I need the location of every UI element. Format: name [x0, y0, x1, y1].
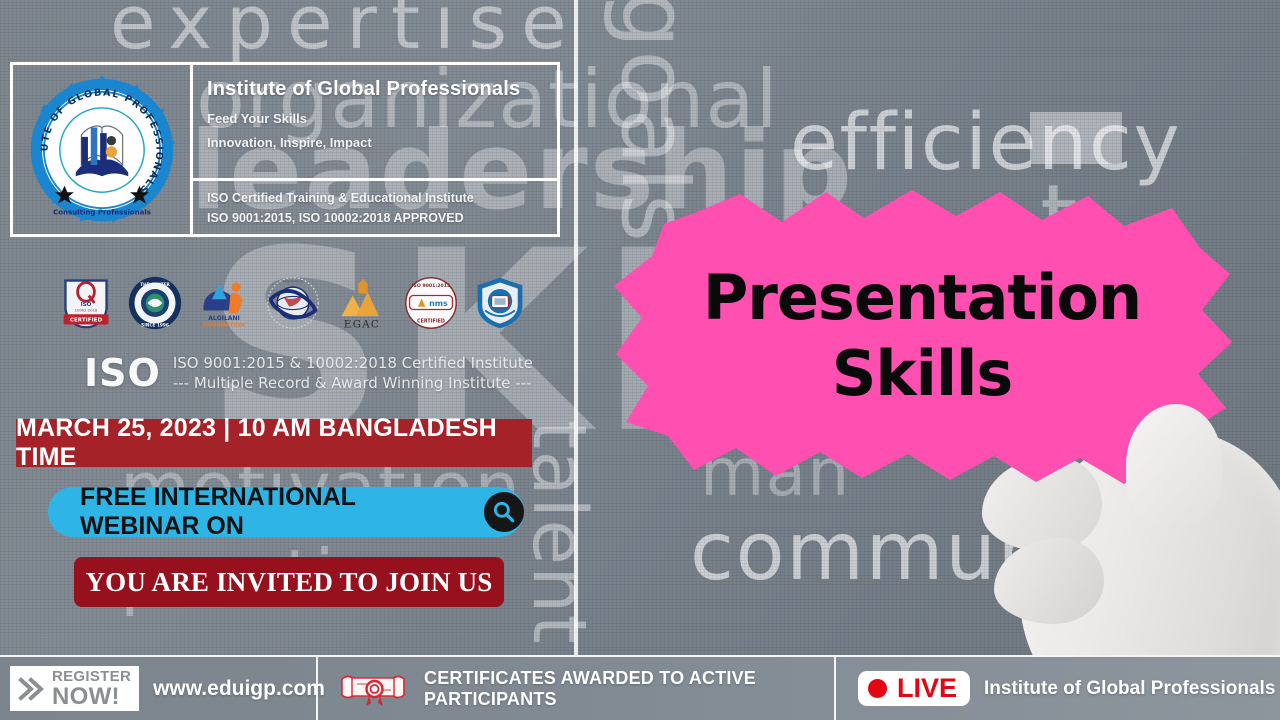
logo-cell: INSTITUTE OF GLOBAL PROFESSIONALS: [13, 65, 193, 234]
bg-word-expertise: expertise: [110, 0, 581, 60]
organization-header-box: INSTITUTE OF GLOBAL PROFESSIONALS: [10, 62, 560, 237]
shield-institute-badge-icon: [472, 275, 528, 331]
iso-description-line-1: ISO 9001:2015 & 10002:2018 Certified Ins…: [173, 353, 533, 373]
live-organization-name: Institute of Global Professionals: [984, 678, 1275, 700]
organization-info-cell: Institute of Global Professionals Feed Y…: [193, 65, 557, 234]
svg-text:EGAC: EGAC: [344, 318, 380, 330]
footer-bar: REGISTER NOW! www.eduigp.com: [0, 655, 1280, 720]
organization-tagline: Feed Your Skills: [207, 111, 557, 126]
svg-text:FOUNDATION: FOUNDATION: [203, 322, 245, 328]
svg-text:ALGILANI: ALGILANI: [208, 315, 240, 322]
svg-text:FEDERATION: FEDERATION: [283, 279, 304, 283]
iso-certification-strip: ISO ISO 9001:2015 & 10002:2018 Certified…: [84, 352, 554, 394]
organization-motto: Innovation, Inspire, Impact: [207, 135, 557, 150]
certificates-awarded-text: CERTIFICATES AWARDED TO ACTIVE PARTICIPA…: [424, 668, 834, 710]
footer-register-section: REGISTER NOW! www.eduigp.com: [0, 657, 316, 720]
certification-logos-row: ISO 10002:2018 CERTIFIED THE CENTER SINC…: [58, 272, 558, 334]
iso-description-line-2: --- Multiple Record & Award Winning Inst…: [173, 373, 533, 393]
vertical-divider: [574, 0, 578, 655]
free-webinar-bar[interactable]: FREE INTERNATIONAL WEBINAR ON: [48, 487, 524, 537]
footer-certificates-section: CERTIFICATES AWARDED TO ACTIVE PARTICIPA…: [316, 657, 834, 720]
svg-text:10002:2018: 10002:2018: [75, 308, 98, 312]
live-badge: LIVE: [858, 671, 970, 706]
institute-seal-logo: INSTITUTE OF GLOBAL PROFESSIONALS: [27, 75, 177, 225]
webinar-poster: expertise organizational leadership goal…: [0, 0, 1280, 720]
nms-iso-certified-badge-icon: ISO 9001:2015 nms CERTIFIED: [403, 275, 459, 331]
bg-block-decoration: [1030, 112, 1122, 164]
seal-bottom-text: Consulting Professionals: [53, 207, 151, 216]
bg-word-efficiency: efficiency: [790, 104, 1181, 182]
iso-quality-certified-badge-icon: ISO 10002:2018 CERTIFIED: [58, 275, 114, 331]
svg-text:ISO: ISO: [81, 302, 92, 308]
thumb-illustration: [1126, 404, 1222, 524]
live-label: LIVE: [897, 675, 957, 702]
double-chevron-icon: [16, 674, 46, 704]
free-webinar-label: FREE INTERNATIONAL WEBINAR ON: [80, 483, 468, 541]
algilani-foundation-badge-icon: ALGILANI FOUNDATION: [196, 275, 252, 331]
seal-emblem: [75, 126, 128, 176]
svg-text:ISO 9001:2015: ISO 9001:2015: [412, 283, 450, 289]
diploma-certificate-icon: [336, 669, 410, 709]
iso-certified-line: ISO Certified Training & Educational Ins…: [207, 189, 557, 208]
invitation-bar: YOU ARE INVITED TO JOIN US: [74, 557, 504, 607]
iso-description: ISO 9001:2015 & 10002:2018 Certified Ins…: [173, 353, 533, 394]
register-now-button[interactable]: REGISTER NOW!: [10, 666, 139, 711]
register-now-label: REGISTER NOW!: [52, 670, 131, 708]
event-date-bar: MARCH 25, 2023 | 10 AM BANGLADESH TIME: [16, 419, 532, 467]
svg-text:THE CENTER: THE CENTER: [140, 282, 170, 288]
website-url[interactable]: www.eduigp.com: [153, 677, 325, 701]
title-line-2: Skills: [832, 343, 1013, 405]
bg-word-talent: talent: [522, 420, 596, 645]
svg-text:nms: nms: [429, 299, 448, 308]
center-of-nlp-badge-icon: THE CENTER SINCE 1996: [127, 275, 183, 331]
register-line-2: NOW!: [52, 685, 131, 709]
svg-text:CERTIFIED: CERTIFIED: [70, 318, 103, 324]
organization-info-top: Institute of Global Professionals Feed Y…: [193, 65, 557, 178]
federation-globe-badge-icon: FEDERATION: [265, 275, 321, 331]
organization-iso-cell: ISO Certified Training & Educational Ins…: [193, 178, 557, 234]
footer-live-section: LIVE Institute of Global Professionals: [834, 657, 1280, 720]
iso-approved-line: ISO 9001:2015, ISO 10002:2018 APPROVED: [207, 209, 557, 228]
organization-title: Institute of Global Professionals: [207, 77, 557, 102]
search-icon[interactable]: [484, 492, 524, 532]
iso-word: ISO: [84, 351, 161, 395]
live-dot-icon: [868, 679, 887, 698]
title-line-1: Presentation: [703, 267, 1141, 329]
egac-badge-icon: EGAC: [334, 275, 390, 331]
svg-text:CERTIFIED: CERTIFIED: [417, 319, 445, 325]
svg-text:SINCE 1996: SINCE 1996: [141, 322, 169, 328]
